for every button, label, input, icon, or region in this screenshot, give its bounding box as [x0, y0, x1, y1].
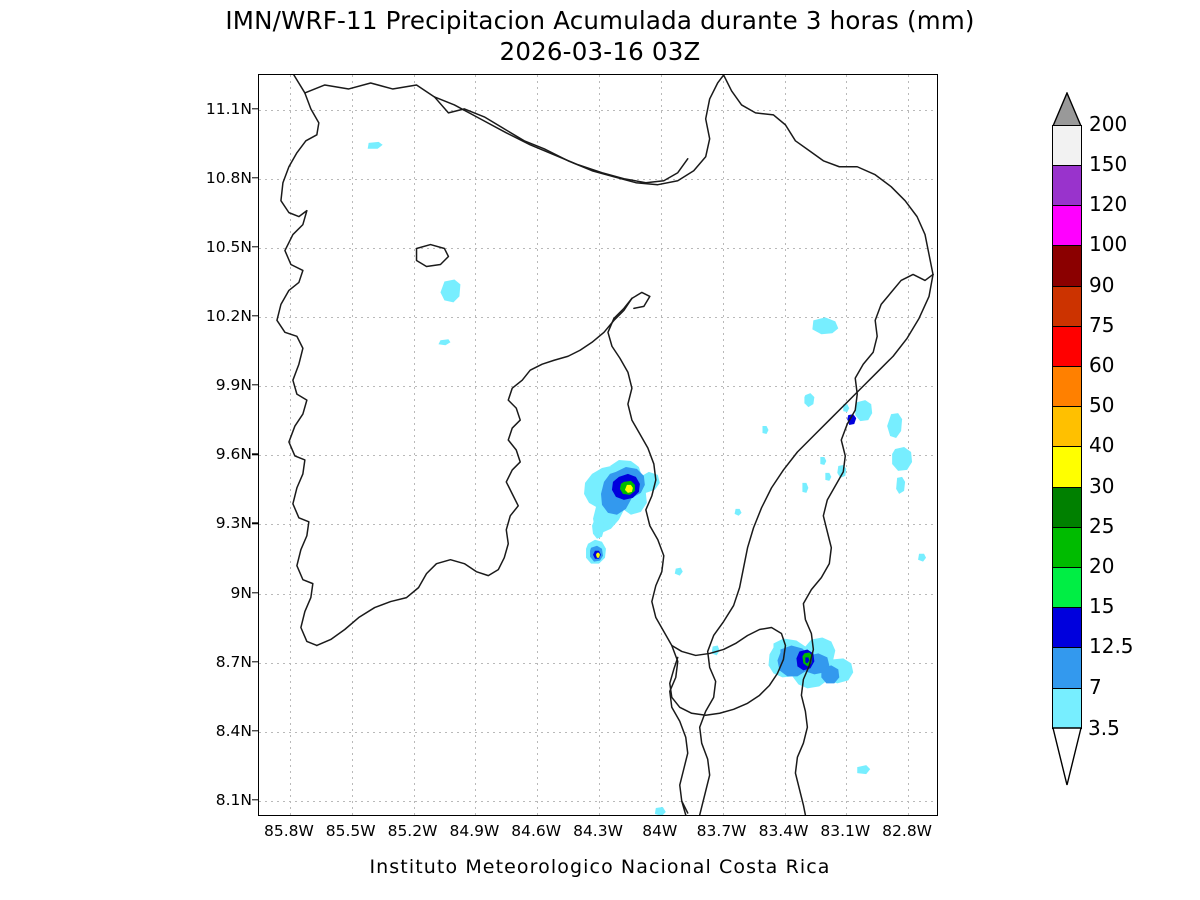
colorbar: 20015012010090756050403025201512.573.5 — [1052, 92, 1082, 786]
y-axis-tick-label: 11.1N — [152, 100, 252, 118]
colorbar-tick-label: 25 — [1089, 514, 1114, 538]
colorbar-tick-label: 75 — [1089, 313, 1114, 337]
y-axis-tick-label: 9.9N — [152, 376, 252, 394]
y-axis-tick-label: 8.1N — [152, 791, 252, 809]
colorbar-tick-label: 50 — [1089, 393, 1114, 417]
colorbar-tick-label: 100 — [1089, 232, 1127, 256]
y-axis-tick-mark — [252, 384, 258, 385]
colorbar-cell: 60 — [1052, 366, 1082, 408]
x-axis-tick-label: 83.4W — [759, 822, 809, 840]
footer-attribution: Instituto Meteorologico Nacional Costa R… — [0, 856, 1200, 878]
x-axis-tick-label: 84.9W — [449, 822, 499, 840]
x-axis-tick-label: 85.5W — [326, 822, 376, 840]
y-axis-tick-mark — [252, 108, 258, 109]
y-axis-tick-label: 8.4N — [152, 722, 252, 740]
y-axis-tick-mark — [252, 177, 258, 178]
colorbar-tick-label: 20 — [1089, 554, 1114, 578]
y-axis-tick-label: 8.7N — [152, 653, 252, 671]
colorbar-cell: 7 — [1052, 688, 1082, 730]
colorbar-tick-label: 200 — [1089, 112, 1127, 136]
y-axis-tick-label: 9.6N — [152, 445, 252, 463]
y-axis-tick-label: 9.3N — [152, 514, 252, 532]
y-axis-tick-label: 10.8N — [152, 169, 252, 187]
colorbar-tick-label: 90 — [1089, 273, 1114, 297]
colorbar-under-arrow — [1052, 728, 1082, 786]
y-axis-tick-mark — [252, 661, 258, 662]
colorbar-cell: 120 — [1052, 205, 1082, 247]
y-axis-tick-mark — [252, 730, 258, 731]
x-axis-tick-label: 84.6W — [511, 822, 561, 840]
colorbar-tick-label: 150 — [1089, 152, 1127, 176]
colorbar-cell: 40 — [1052, 446, 1082, 488]
colorbar-cell: 100 — [1052, 245, 1082, 287]
chart-title-block: IMN/WRF-11 Precipitacion Acumulada duran… — [0, 6, 1200, 66]
colorbar-tick-label: 15 — [1089, 594, 1114, 618]
colorbar-tick-label: 40 — [1089, 433, 1114, 457]
coastline-borders — [259, 75, 937, 815]
x-axis-tick-label: 82.8W — [882, 822, 932, 840]
y-axis-tick-mark — [252, 523, 258, 524]
x-axis-tick-label: 84.3W — [573, 822, 623, 840]
colorbar-cell: 25 — [1052, 527, 1082, 569]
y-axis-tick-mark — [252, 315, 258, 316]
x-axis-tick-label: 83.7W — [697, 822, 747, 840]
colorbar-cell: 90 — [1052, 286, 1082, 328]
x-axis-tick-label: 85.8W — [264, 822, 314, 840]
colorbar-tick-label: 3.5 — [1088, 716, 1120, 740]
colorbar-cell: 30 — [1052, 487, 1082, 529]
x-axis-tick-label: 85.2W — [388, 822, 438, 840]
colorbar-tick-label: 7 — [1089, 675, 1102, 699]
y-axis-tick-mark — [252, 453, 258, 454]
colorbar-cell: 150 — [1052, 165, 1082, 207]
y-axis-tick-mark — [252, 799, 258, 800]
y-axis-tick-label: 10.2N — [152, 307, 252, 325]
y-axis-tick-label: 9N — [152, 584, 252, 602]
colorbar-cell: 20 — [1052, 567, 1082, 609]
colorbar-tick-label: 12.5 — [1089, 634, 1134, 658]
colorbar-over-arrow — [1052, 92, 1082, 126]
map-plot-area — [258, 74, 938, 816]
chart-subtitle: 2026-03-16 03Z — [0, 37, 1200, 66]
colorbar-cell: 200 — [1052, 125, 1082, 167]
colorbar-cell: 75 — [1052, 326, 1082, 368]
y-axis-tick-mark — [252, 592, 258, 593]
colorbar-cell: 15 — [1052, 607, 1082, 649]
colorbar-tick-label: 120 — [1089, 192, 1127, 216]
colorbar-tick-label: 60 — [1089, 353, 1114, 377]
page-title: IMN/WRF-11 Precipitacion Acumulada duran… — [0, 6, 1200, 35]
x-axis-tick-label: 84W — [642, 822, 677, 840]
colorbar-tick-label: 30 — [1089, 474, 1114, 498]
colorbar-cell: 50 — [1052, 406, 1082, 448]
y-axis-tick-label: 10.5N — [152, 238, 252, 256]
colorbar-cell: 12.5 — [1052, 647, 1082, 689]
y-axis-tick-mark — [252, 246, 258, 247]
x-axis-tick-label: 83.1W — [820, 822, 870, 840]
